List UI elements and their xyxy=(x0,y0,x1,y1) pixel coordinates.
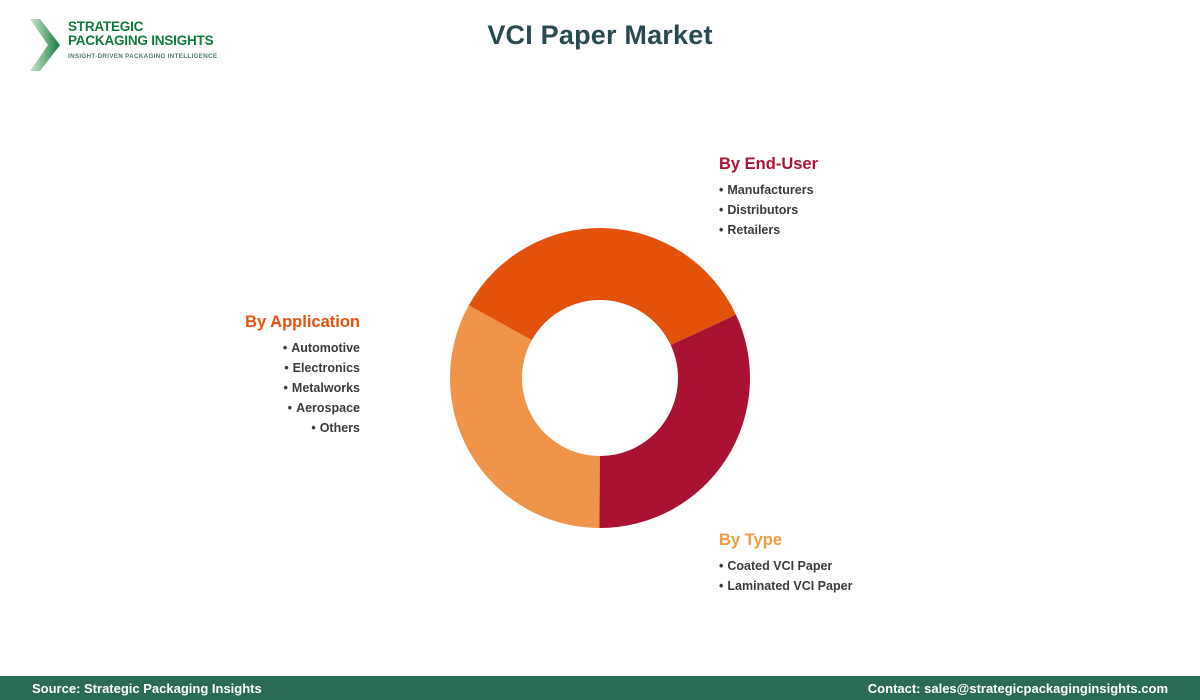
list-item: •Laminated VCI Paper xyxy=(719,576,852,596)
segment-application-list: •Automotive •Electronics •Metalworks •Ae… xyxy=(118,338,360,438)
bullet-icon: • xyxy=(719,203,723,217)
list-item-label: Laminated VCI Paper xyxy=(727,579,852,593)
list-item: •Automotive xyxy=(118,338,360,358)
list-item: •Coated VCI Paper xyxy=(719,556,852,576)
list-item-label: Retailers xyxy=(727,223,780,237)
bullet-icon: • xyxy=(719,559,723,573)
infographic-page: STRATEGIC PACKAGING INSIGHTS INSIGHT-DRI… xyxy=(0,0,1200,700)
segment-end-user-list: •Manufacturers •Distributors •Retailers xyxy=(719,180,818,240)
list-item-label: Coated VCI Paper xyxy=(727,559,832,573)
bullet-icon: • xyxy=(719,223,723,237)
list-item: •Aerospace xyxy=(118,398,360,418)
segment-application: By Application •Automotive •Electronics … xyxy=(118,313,360,438)
page-title: VCI Paper Market xyxy=(0,20,1200,51)
segment-application-title: By Application xyxy=(118,313,360,332)
segment-type-list: •Coated VCI Paper •Laminated VCI Paper xyxy=(719,556,852,596)
list-item-label: Electronics xyxy=(293,361,360,375)
segment-type-title: By Type xyxy=(719,531,852,550)
list-item: •Electronics xyxy=(118,358,360,378)
bullet-icon: • xyxy=(311,421,315,435)
footer-bar: Source: Strategic Packaging Insights Con… xyxy=(0,676,1200,700)
footer-source: Source: Strategic Packaging Insights xyxy=(32,681,262,696)
list-item: •Distributors xyxy=(719,200,818,220)
list-item-label: Distributors xyxy=(727,203,798,217)
donut-slice-application xyxy=(469,228,736,345)
brand-tagline: INSIGHT-DRIVEN PACKAGING INTELLIGENCE xyxy=(68,53,217,60)
segment-end-user: By End-User •Manufacturers •Distributors… xyxy=(719,155,818,240)
list-item: •Manufacturers xyxy=(719,180,818,200)
list-item-label: Aerospace xyxy=(296,401,360,415)
list-item-label: Automotive xyxy=(291,341,360,355)
segment-end-user-title: By End-User xyxy=(719,155,818,174)
segment-type: By Type •Coated VCI Paper •Laminated VCI… xyxy=(719,531,852,596)
list-item-label: Others xyxy=(320,421,360,435)
bullet-icon: • xyxy=(288,401,292,415)
bullet-icon: • xyxy=(284,381,288,395)
footer-contact[interactable]: Contact: sales@strategicpackaginginsight… xyxy=(868,681,1168,696)
list-item: •Others xyxy=(118,418,360,438)
donut-slice-type xyxy=(450,305,600,528)
donut-chart xyxy=(450,228,750,528)
bullet-icon: • xyxy=(719,579,723,593)
list-item: •Retailers xyxy=(719,220,818,240)
list-item-label: Manufacturers xyxy=(727,183,813,197)
bullet-icon: • xyxy=(284,361,288,375)
bullet-icon: • xyxy=(719,183,723,197)
list-item: •Metalworks xyxy=(118,378,360,398)
bullet-icon: • xyxy=(283,341,287,355)
donut-chart-svg xyxy=(450,228,750,528)
donut-slice-end-user xyxy=(599,315,750,528)
list-item-label: Metalworks xyxy=(292,381,360,395)
